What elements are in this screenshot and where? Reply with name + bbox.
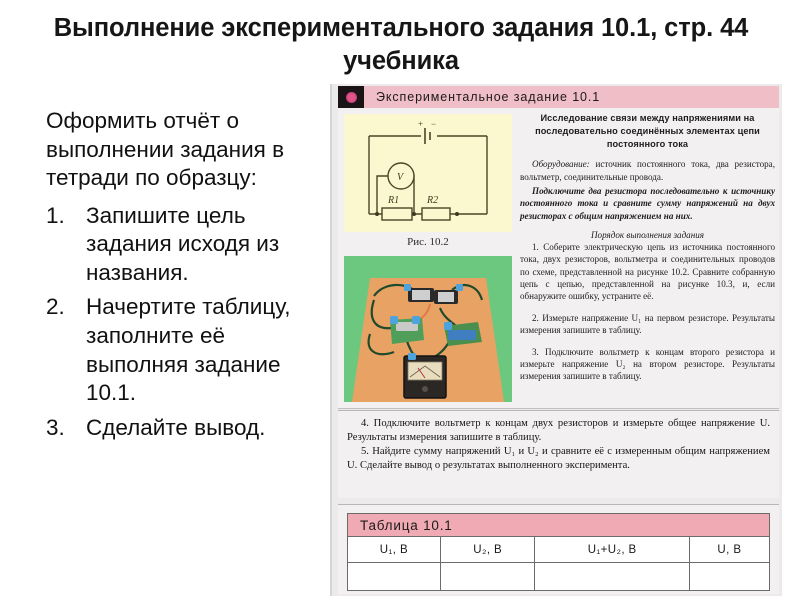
red-dot-icon xyxy=(338,86,364,108)
table-cell[interactable] xyxy=(348,563,441,591)
textbook-body: + − V R1 R2 Рис. 10.2 xyxy=(338,108,779,409)
procedure-step: 2. Измерьте напряжение U₁ на первом рези… xyxy=(520,312,775,337)
procedure-step: 1. Соберите электрическую цепь из источн… xyxy=(520,241,775,303)
page-title: Выполнение экспериментального задания 10… xyxy=(40,12,762,77)
procedure-step: 4. Подключите вольтметр к концам двух ре… xyxy=(347,417,770,445)
table-cell[interactable] xyxy=(535,563,689,591)
list-item-number: 1. xyxy=(46,202,74,231)
results-table-block: Таблица 10.1 U₁, В U₂, В U₁+U₂, В U, В xyxy=(338,504,779,594)
table-column-header: U₂, В xyxy=(440,537,535,563)
list-item-number: 3. xyxy=(46,414,74,443)
circuit-diagram-figure: + − V R1 R2 xyxy=(344,114,512,232)
table-caption-row: Таблица 10.1 xyxy=(348,514,770,537)
list-item: 2. Начертите таблицу, заполните её выпол… xyxy=(46,293,326,407)
table-column-header: U, В xyxy=(689,537,769,563)
resistor2-label: R2 xyxy=(426,195,438,206)
lead-paragraph: Оформить отчёт о выполнении задания в те… xyxy=(46,107,326,193)
steps-list: 1. Запишите цель задания исходя из назва… xyxy=(46,202,326,443)
list-item-number: 2. xyxy=(46,293,74,322)
table-column-header: U₁+U₂, В xyxy=(535,537,689,563)
list-item-text: Начертите таблицу, заполните её выполняя… xyxy=(86,294,291,405)
list-item: 3. Сделайте вывод. xyxy=(46,414,326,443)
lab-setup-illustration xyxy=(344,256,512,402)
battery-minus-label: − xyxy=(431,119,436,129)
battery-plus-label: + xyxy=(418,119,423,129)
procedure-step: 3. Подключите вольтметр к концам второго… xyxy=(520,346,775,383)
textbook-scan-panel: Экспериментальное задание 10.1 + − xyxy=(330,84,782,596)
lab-setup-photograph xyxy=(344,256,512,402)
procedure-step: 5. Найдите сумму напряжений U₁ и U₂ и ср… xyxy=(347,445,770,473)
procedure-heading: Порядок выполнения задания xyxy=(520,230,775,240)
task-title: Исследование связи между напряжениями на… xyxy=(520,112,775,151)
textbook-header-title: Экспериментальное задание 10.1 xyxy=(364,90,600,104)
textbook-text-column: Исследование связи между напряжениями на… xyxy=(520,112,775,385)
table-cell[interactable] xyxy=(689,563,769,591)
list-item-text: Запишите цель задания исходя из названия… xyxy=(86,203,279,285)
table-cell[interactable] xyxy=(440,563,535,591)
task-statement: Подключите два резистора последовательно… xyxy=(520,185,775,222)
table-caption: Таблица 10.1 xyxy=(348,514,770,537)
resistor1-label: R1 xyxy=(387,195,399,206)
textbook-header-band: Экспериментальное задание 10.1 xyxy=(338,86,779,109)
results-table: Таблица 10.1 U₁, В U₂, В U₁+U₂, В U, В xyxy=(347,513,770,591)
instructions-panel: Оформить отчёт о выполнении задания в те… xyxy=(46,107,326,448)
list-item-text: Сделайте вывод. xyxy=(86,415,265,440)
textbook-lower-text: 4. Подключите вольтметр к концам двух ре… xyxy=(338,410,779,498)
table-header-row: U₁, В U₂, В U₁+U₂, В U, В xyxy=(348,537,770,563)
equipment-paragraph: Оборудование: источник постоянного тока,… xyxy=(520,158,775,183)
table-row xyxy=(348,563,770,591)
circuit-schematic-svg: + − V R1 R2 xyxy=(344,114,512,232)
equipment-label: Оборудование: xyxy=(532,159,590,169)
table-column-header: U₁, В xyxy=(348,537,441,563)
figure-caption: Рис. 10.2 xyxy=(344,236,512,248)
list-item: 1. Запишите цель задания исходя из назва… xyxy=(46,202,326,288)
